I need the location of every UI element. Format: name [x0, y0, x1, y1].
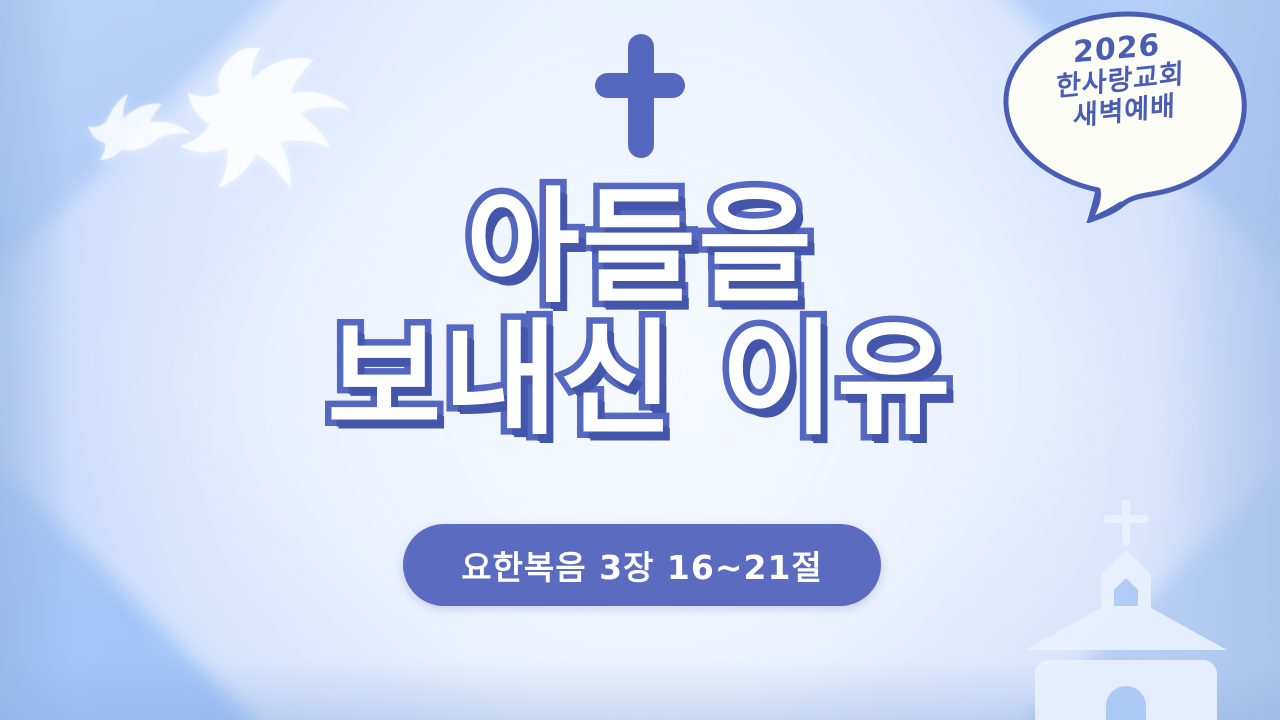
sermon-title-line-1: 아들을 [0, 186, 1280, 310]
dove-icon [180, 48, 350, 188]
scripture-reference-text: 요한복음 3장 16~21절 [461, 541, 823, 589]
sermon-title-card: 2026 한사랑교회 새벽예배 아들을 보내신 이유 요한복음 3장 16~21… [0, 0, 1280, 720]
church-cross-horizontal [1104, 515, 1148, 523]
dove-icon [88, 94, 192, 160]
church-icon [1003, 498, 1258, 720]
cross-icon [595, 34, 685, 158]
scripture-reference-pill: 요한복음 3장 16~21절 [403, 524, 881, 606]
cross-horizontal-bar [595, 73, 685, 98]
sermon-title-line-2: 보내신 이유 [0, 318, 1280, 442]
sermon-title: 아들을 보내신 이유 [0, 186, 1280, 442]
